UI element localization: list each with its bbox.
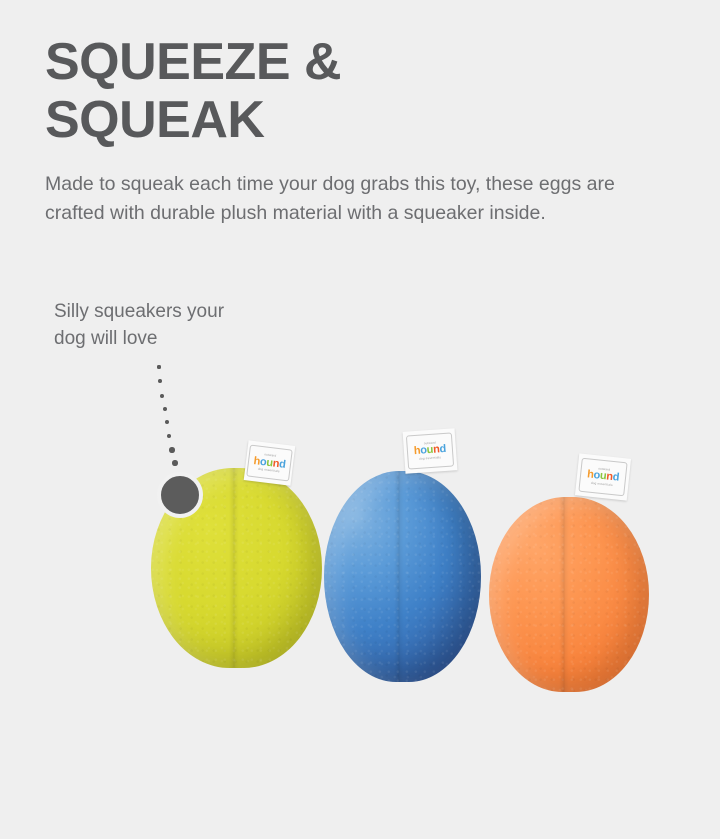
brand-tag-blue: outward hound dog essentials (403, 428, 458, 474)
egg-seam (394, 471, 404, 682)
egg-fuzz-texture (489, 497, 649, 692)
egg-seam (229, 468, 239, 668)
plush-egg-blue (324, 471, 481, 682)
egg-seam (559, 497, 569, 692)
brand-tag-inner: outward hound dog essentials (406, 433, 455, 469)
brand-tag-bottom-text: dog essentials (257, 468, 279, 474)
brand-tag-orange: outward hound dog essentials (575, 453, 631, 500)
brand-tag-inner: outward hound dog essentials (247, 445, 293, 482)
product-group: outward hound dog essentials outward hou… (0, 0, 720, 839)
callout-marker-dot (157, 472, 203, 518)
brand-tag-bottom-text: dog essentials (419, 456, 441, 461)
product-feature-panel: SQUEEZE & SQUEAK Made to squeak each tim… (0, 0, 720, 839)
brand-tag-inner: outward hound dog essentials (578, 458, 628, 496)
plush-egg-orange (489, 497, 649, 692)
brand-tag-top-text: outward (423, 441, 435, 445)
brand-tag-bottom-text: dog essentials (591, 482, 613, 487)
brand-tag-green: outward hound dog essentials (244, 440, 296, 485)
